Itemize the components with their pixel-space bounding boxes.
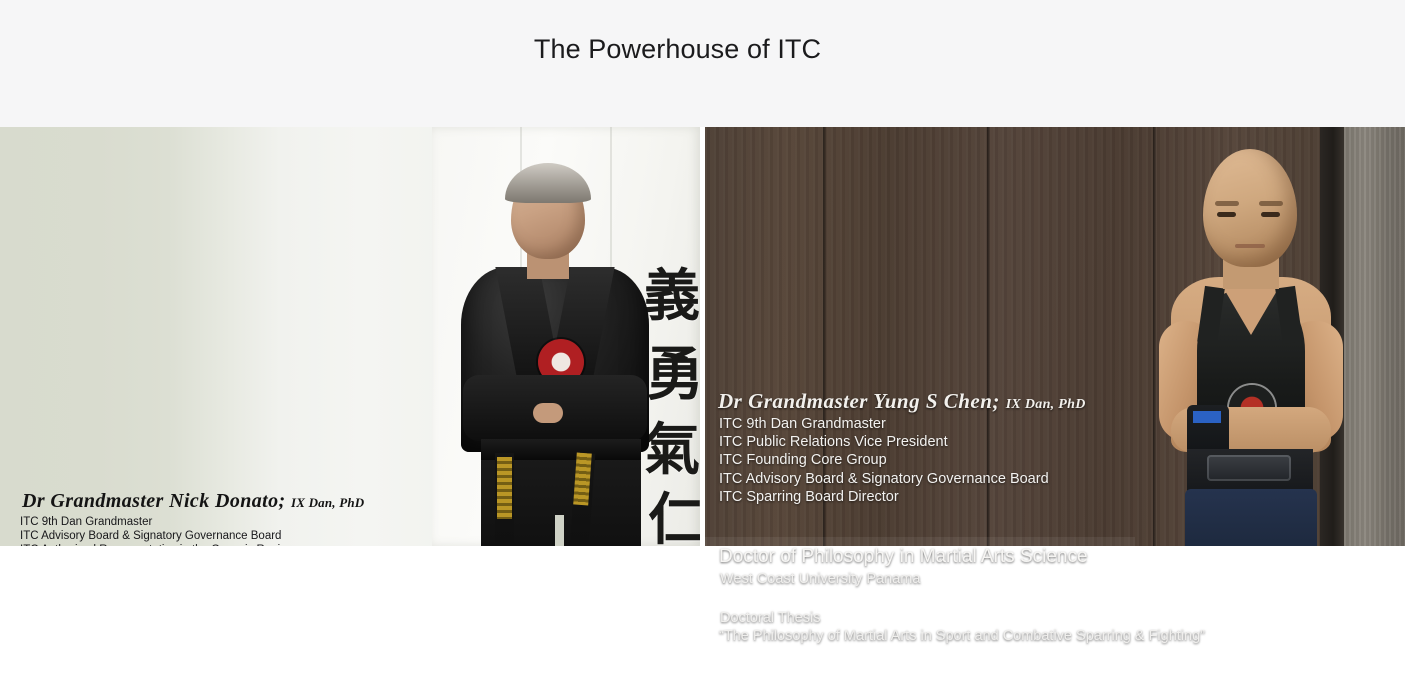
- thesis-label-right: Doctoral Thesis: [720, 610, 820, 626]
- degree-title-right: Doctor of Philosophy in Martial Arts Sci…: [719, 546, 1088, 568]
- name-main-right: Dr Grandmaster Yung S Chen;: [718, 389, 1000, 413]
- name-postnominals-right: IX Dan, PhD: [1006, 397, 1086, 412]
- roles-list-right: ITC 9th Dan Grandmaster ITC Public Relat…: [719, 415, 1049, 506]
- roles-list-left: ITC 9th Dan Grandmaster ITC Advisory Boa…: [20, 515, 299, 546]
- belt-buckle: [1207, 455, 1291, 481]
- name-postnominals-left: IX Dan, PhD: [291, 495, 364, 510]
- grandmaster-donato-photo-figure: [455, 167, 655, 546]
- page-title: The Powerhouse of ITC: [0, 34, 1355, 65]
- name-heading-right: Dr Grandmaster Yung S Chen; IX Dan, PhD: [718, 389, 1086, 414]
- page-header: The Powerhouse of ITC: [0, 0, 1405, 127]
- name-main-left: Dr Grandmaster Nick Donato;: [22, 490, 286, 512]
- kanji-benevolence: 仁: [648, 493, 700, 546]
- thesis-title-right: “The Philosophy of Martial Arts in Sport…: [719, 627, 1219, 646]
- profile-panel-left[interactable]: 忠 礼 武 誠 義 勇 氣 仁 Dr Gr: [0, 127, 700, 546]
- name-heading-left: Dr Grandmaster Nick Donato; IX Dan, PhD: [22, 490, 364, 513]
- university-right: West Coast University Panama: [720, 571, 920, 587]
- slide-area: 忠 礼 武 誠 義 勇 氣 仁 Dr Gr: [0, 127, 1405, 546]
- grandmaster-chen-photo-figure: [1135, 149, 1365, 546]
